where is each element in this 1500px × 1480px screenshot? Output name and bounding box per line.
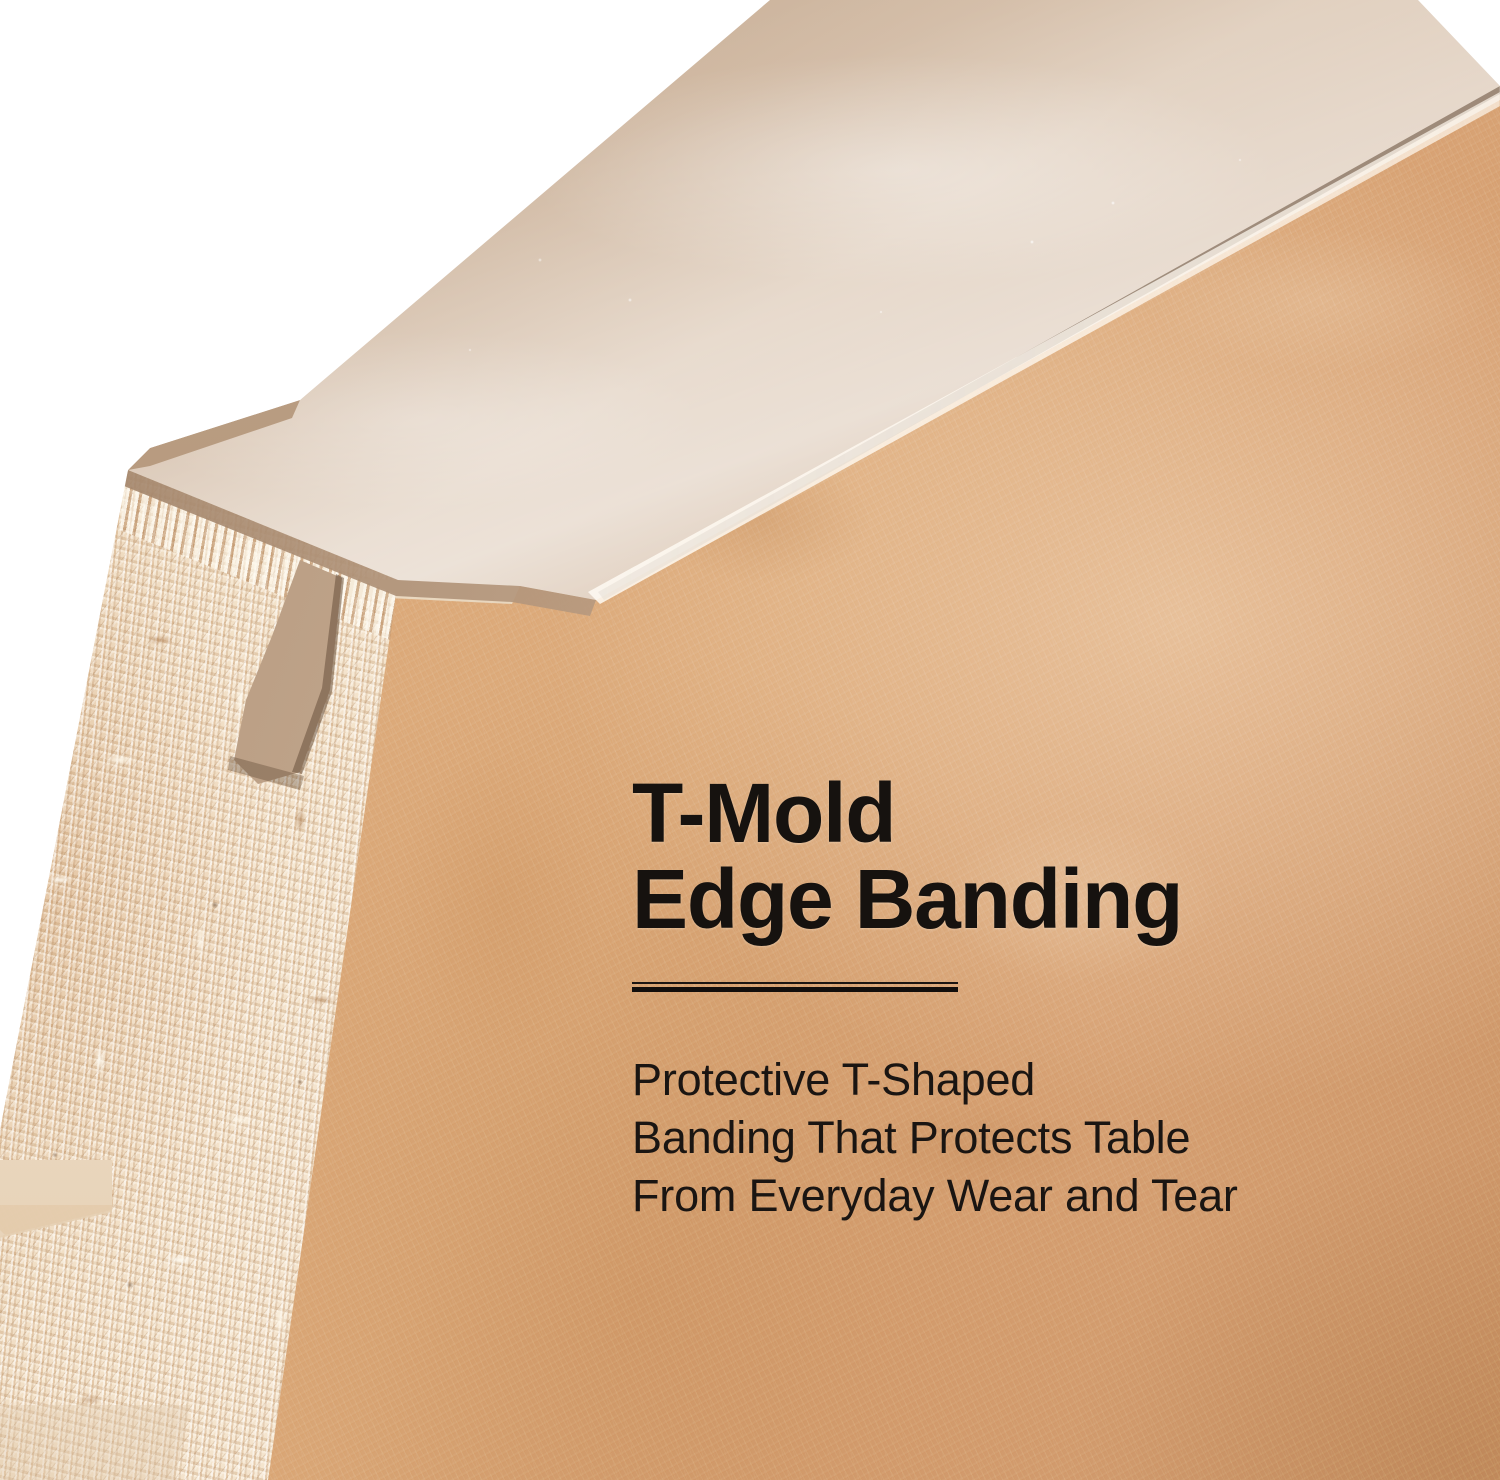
product-title: T-Mold Edge Banding — [632, 770, 1412, 942]
marketing-copy-block: T-Mold Edge Banding Protective T-Shaped … — [632, 770, 1412, 1225]
title-divider — [632, 982, 958, 992]
product-image-canvas: T-Mold Edge Banding Protective T-Shaped … — [0, 0, 1500, 1480]
product-subtitle: Protective T-Shaped Banding That Protect… — [632, 1051, 1412, 1225]
divider-rule-thin — [632, 982, 958, 984]
divider-rule-thick — [632, 987, 958, 992]
